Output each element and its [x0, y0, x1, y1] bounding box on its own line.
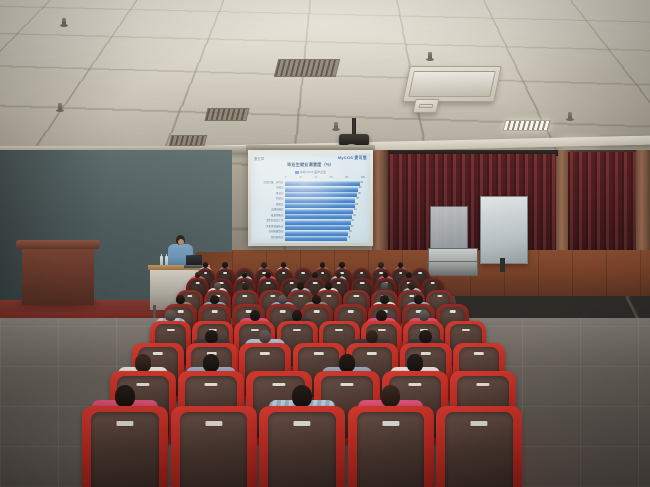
attendee-head — [278, 295, 286, 304]
bar-fill — [285, 225, 350, 230]
bar-track: 83 — [285, 214, 366, 219]
seat-number-plate — [399, 272, 403, 274]
seat-number-plate — [354, 295, 359, 297]
attendee-head — [419, 330, 431, 344]
seat-number-plate — [289, 282, 294, 284]
storage-cabinet — [428, 248, 478, 276]
bar-row: 居民服务业76 — [254, 236, 366, 241]
whiteboard-leg — [500, 258, 505, 272]
seat-number-plate — [321, 272, 325, 274]
slide-title: 毕业生就业满意度（%） — [251, 162, 370, 168]
seat-number-plate — [204, 272, 208, 274]
bar-track: 84 — [285, 208, 366, 213]
sprinkler-icon — [334, 122, 338, 129]
bar-value-label: 76 — [348, 236, 351, 241]
attendee-head — [205, 330, 217, 344]
seat-number-plate — [116, 421, 133, 426]
seat-number-plate — [293, 421, 310, 426]
bar-fill — [285, 181, 360, 186]
sprinkler-icon — [62, 18, 66, 25]
attendee-head — [292, 385, 311, 407]
bar-category-label: 建筑业 — [254, 203, 285, 208]
attendee-head — [407, 354, 422, 371]
bar-category-label: 文化体育娱乐业 — [254, 225, 285, 230]
x-axis-tick: 0 — [285, 176, 286, 179]
bar-row: 交通运输业84 — [254, 208, 366, 213]
seat-number-plate — [272, 383, 285, 387]
seat-number-plate — [470, 421, 487, 426]
bar-row: 批发零售业83 — [254, 214, 366, 219]
seat-number-plate — [136, 383, 149, 387]
bar-fill — [285, 220, 351, 225]
seat-number-plate — [360, 282, 365, 284]
sprinkler-icon — [428, 52, 432, 59]
bar-fill — [285, 192, 357, 197]
seat-number-plate — [204, 383, 217, 387]
attendee-head — [419, 310, 429, 321]
attendee-head — [135, 354, 150, 371]
bar-value-label: 89 — [358, 192, 361, 197]
ceiling-vent-icon — [169, 135, 208, 146]
seat-number-plate — [360, 272, 364, 274]
attendee-head — [339, 354, 354, 371]
bar-row: 卫生和社会工作81 — [254, 219, 366, 224]
x-axis-tick: 60 — [330, 176, 333, 179]
seat-number-plate — [260, 352, 270, 355]
auditorium-seat[interactable] — [259, 406, 345, 487]
chart-legend: 本校 2015 届毕业生 — [251, 170, 370, 174]
seat-number-plate — [326, 295, 331, 297]
bar-row: 金融业90 — [254, 186, 366, 191]
seat-number-plate — [336, 282, 341, 284]
bar-category-label: 交通运输业 — [254, 208, 285, 213]
seat-number-plate — [340, 383, 353, 387]
seat-number-plate — [205, 421, 222, 426]
bar-rows-container: 信息传输、软件业92金融业90教育业89制造业87建筑业86交通运输业84批发零… — [254, 181, 366, 240]
ceiling-ac-unit — [402, 66, 502, 102]
attendee-head — [312, 295, 320, 304]
seat-number-plate — [382, 421, 399, 426]
seat-number-plate — [279, 310, 286, 312]
seat-number-plate — [251, 329, 259, 332]
bar-fill — [285, 214, 352, 219]
seat-number-plate — [313, 282, 318, 284]
ceiling-light-fixture — [502, 120, 551, 131]
bar-category-label: 教育业 — [254, 192, 285, 197]
seat-number-plate — [367, 352, 377, 355]
seat-number-plate — [437, 295, 442, 297]
attendee-head — [366, 330, 378, 344]
bar-track: 87 — [285, 197, 366, 202]
bar-track: 86 — [285, 203, 366, 208]
bar-value-label: 92 — [361, 181, 364, 186]
seat-number-plate — [195, 282, 200, 284]
seat-number-plate — [408, 383, 421, 387]
bar-track: 92 — [285, 181, 366, 186]
x-axis-tick: 40 — [314, 176, 317, 179]
legend-label: 本校 2015 届毕业生 — [300, 170, 326, 174]
seat-number-plate — [420, 352, 430, 355]
legend-swatch — [295, 171, 299, 174]
bar-category-label: 制造业 — [254, 197, 285, 202]
bar-category-label: 卫生和社会工作 — [254, 219, 285, 224]
seat-number-plate — [474, 352, 484, 355]
bar-category-label: 金融业 — [254, 186, 285, 191]
bar-track: 76 — [285, 236, 366, 241]
bar-track: 90 — [285, 186, 366, 191]
seat-number-plate — [211, 310, 218, 312]
seat-number-plate — [449, 310, 456, 312]
bar-fill — [285, 203, 355, 208]
seat-number-plate — [223, 272, 227, 274]
bar-value-label: 87 — [356, 197, 359, 202]
stage-curtain — [568, 152, 636, 264]
seat-number-plate — [347, 310, 354, 312]
bar-row: 制造业87 — [254, 197, 366, 202]
x-axis-tick: 20 — [299, 176, 302, 179]
seat-number-plate — [301, 272, 305, 274]
presenter-face — [178, 239, 184, 245]
slide-content: 第五章 MyCOS 麦可思 毕业生就业满意度（%） 本校 2015 届毕业生 0… — [251, 153, 370, 243]
seat-number-plate — [335, 329, 343, 332]
bar-fill — [285, 231, 348, 236]
attendee-head — [259, 330, 271, 344]
seat-number-plate — [462, 329, 470, 332]
bar-chart: 信息传输、软件业92金融业90教育业89制造业87建筑业86交通运输业84批发零… — [254, 181, 366, 239]
slide-section-label: 第五章 — [254, 156, 264, 161]
auditorium-seat[interactable] — [348, 406, 434, 487]
x-axis-ticks: 020406080100 — [285, 176, 365, 179]
bar-fill — [285, 187, 358, 192]
bar-value-label: 78 — [349, 230, 352, 235]
seat-number-plate — [313, 352, 323, 355]
seat-number-plate — [313, 310, 320, 312]
bar-row: 教育业89 — [254, 192, 366, 197]
seat-number-plate — [298, 295, 303, 297]
attendee-head — [203, 354, 218, 371]
bar-value-label: 90 — [359, 186, 362, 191]
attendee-head — [176, 295, 184, 304]
bar-value-label: 81 — [352, 219, 355, 224]
mycos-logo: MyCOS 麦可思 — [338, 155, 367, 161]
seat-number-plate — [476, 383, 489, 387]
bar-category-label: 住宿和餐饮业 — [254, 230, 285, 235]
seat-number-plate — [166, 329, 174, 332]
auditorium-seat[interactable] — [82, 406, 168, 487]
bar-row: 住宿和餐饮业78 — [254, 230, 366, 235]
sprinkler-icon — [568, 112, 572, 119]
bar-category-label: 批发零售业 — [254, 214, 285, 219]
whiteboard — [480, 196, 528, 264]
x-axis-tick: 100 — [361, 176, 365, 179]
ceiling-vent-icon — [204, 108, 249, 121]
auditorium-seat[interactable] — [171, 406, 257, 487]
bar-value-label: 83 — [353, 214, 356, 219]
attendee-head — [414, 295, 422, 304]
seat-number-plate — [187, 295, 192, 297]
bar-row: 信息传输、软件业92 — [254, 181, 366, 186]
ceiling-ac-unit — [413, 99, 440, 113]
attendee-head — [381, 385, 400, 407]
attendee-head — [250, 310, 260, 321]
bar-row: 建筑业86 — [254, 203, 366, 208]
bar-value-label: 84 — [354, 208, 357, 213]
sprinkler-icon — [58, 103, 62, 110]
seat-number-plate — [270, 295, 275, 297]
bar-fill — [285, 236, 347, 241]
seat-number-plate — [177, 310, 184, 312]
bar-value-label: 86 — [356, 203, 359, 208]
seat-number-plate — [153, 352, 163, 355]
bar-value-label: 80 — [351, 225, 354, 230]
bar-track: 80 — [285, 225, 366, 230]
auditorium-seat[interactable] — [436, 406, 522, 487]
seat-number-plate — [293, 329, 301, 332]
lecture-hall-photo: 第五章 MyCOS 麦可思 毕业生就业满意度（%） 本校 2015 届毕业生 0… — [0, 0, 650, 487]
ceiling-vent-icon — [274, 59, 340, 77]
bar-category-label: 信息传输、软件业 — [254, 181, 285, 186]
seat-number-plate — [418, 272, 422, 274]
water-bottle — [160, 256, 163, 265]
attendee-head — [376, 310, 386, 321]
podium — [22, 243, 94, 305]
seat-number-plate — [282, 272, 286, 274]
attendee-head — [165, 310, 175, 321]
bar-track: 81 — [285, 219, 366, 224]
x-axis-tick: 80 — [345, 176, 348, 179]
seat-number-plate — [242, 295, 247, 297]
bar-track: 78 — [285, 230, 366, 235]
bar-fill — [285, 198, 355, 203]
bar-fill — [285, 209, 353, 214]
water-bottle — [165, 256, 168, 265]
attendee-head — [210, 295, 218, 304]
seat-number-plate — [266, 282, 271, 284]
bar-row: 文化体育娱乐业80 — [254, 225, 366, 230]
seat-number-plate — [377, 329, 385, 332]
attendee-head — [380, 295, 388, 304]
seat-number-plate — [430, 282, 435, 284]
projection-screen: 第五章 MyCOS 麦可思 毕业生就业满意度（%） 本校 2015 届毕业生 0… — [248, 150, 373, 246]
attendee-head — [115, 385, 134, 407]
podium-top — [16, 240, 100, 249]
bar-track: 89 — [285, 192, 366, 197]
attendee-head — [292, 310, 302, 321]
bar-category-label: 居民服务业 — [254, 236, 285, 241]
